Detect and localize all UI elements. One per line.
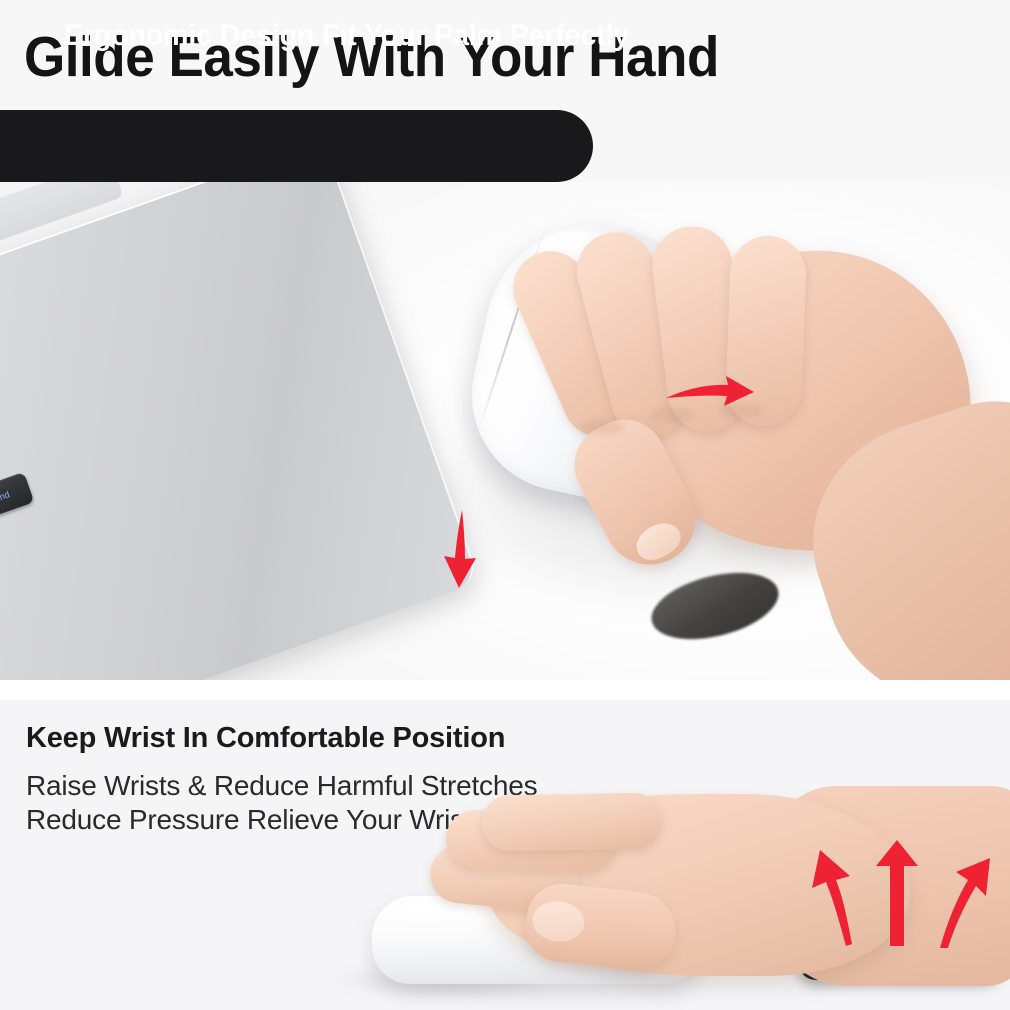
- subtitle-badge-label: Ergonomic Design Fit Your Palm Perfectly: [64, 0, 629, 72]
- product-infographic: Glide Easily With Your Hand Ergonomic De…: [0, 0, 1010, 1010]
- benefit-section: Keep Wrist In Comfortable Position Raise…: [0, 700, 1010, 1010]
- top-text-band: Glide Easily With Your Hand Ergonomic De…: [0, 0, 1010, 182]
- support-arrow-center-icon: [876, 840, 918, 946]
- glide-arrow-down-icon: [438, 508, 484, 592]
- laptop-computer: Delete Backspace \ Enter Shift: [0, 182, 503, 680]
- key-end-label: End: [0, 489, 11, 504]
- thumb-nail: [630, 516, 686, 566]
- subtitle-badge: [0, 110, 593, 182]
- finger-ring-bottom: [482, 792, 663, 851]
- thumb-nail-bottom: [530, 899, 586, 944]
- support-arrows-group: [790, 840, 1000, 950]
- support-arrow-right-icon: [940, 858, 990, 948]
- knuckle-1: [580, 420, 624, 434]
- hero-photo-glide: Delete Backspace \ Enter Shift: [0, 182, 1010, 680]
- benefit-title: Keep Wrist In Comfortable Position: [26, 722, 505, 755]
- support-arrow-left-icon: [812, 850, 852, 946]
- section-divider: [0, 680, 1010, 700]
- glide-arrow-right-icon: [664, 372, 756, 420]
- benefit-line-2: Reduce Pressure Relieve Your Wrist: [26, 804, 472, 836]
- key-end: End: [0, 472, 34, 522]
